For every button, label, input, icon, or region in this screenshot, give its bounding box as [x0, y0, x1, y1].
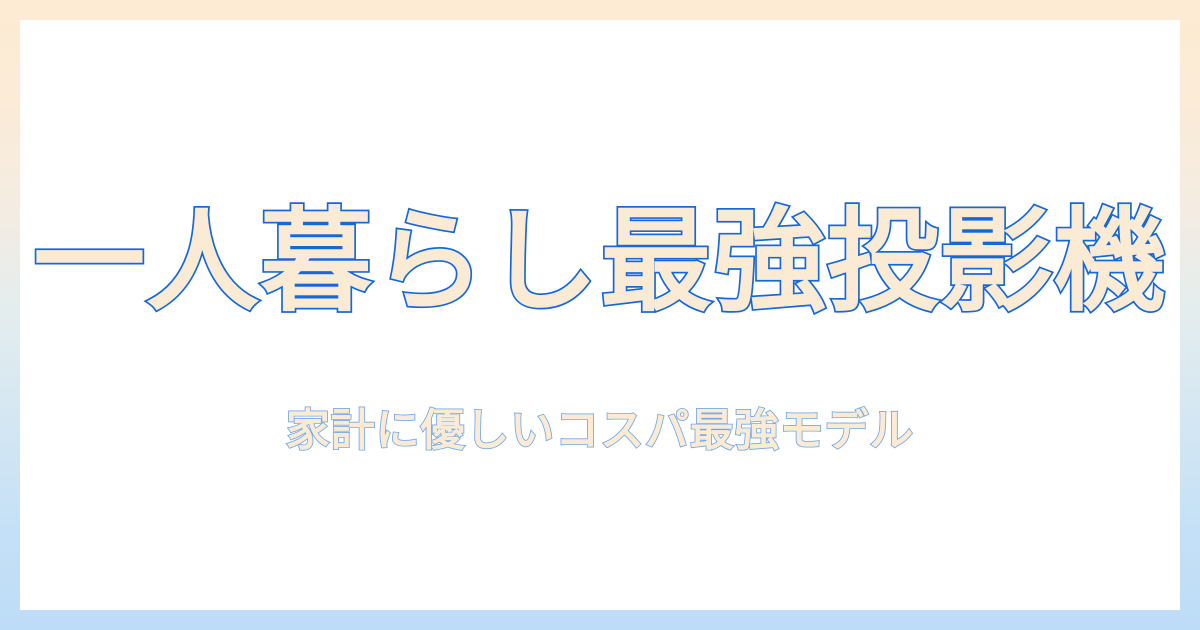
page-title: 一人暮らし最強投影機 — [33, 200, 1166, 325]
banner-card: 一人暮らし最強投影機 家計に優しいコスパ最強モデル — [20, 20, 1180, 610]
subheadline-container: 家計に優しいコスパ最強モデル — [20, 405, 1180, 458]
banner-frame: 一人暮らし最強投影機 家計に優しいコスパ最強モデル — [0, 0, 1200, 630]
page-subtitle: 家計に優しいコスパ最強モデル — [286, 405, 914, 458]
headline-container: 一人暮らし最強投影機 — [20, 200, 1180, 325]
